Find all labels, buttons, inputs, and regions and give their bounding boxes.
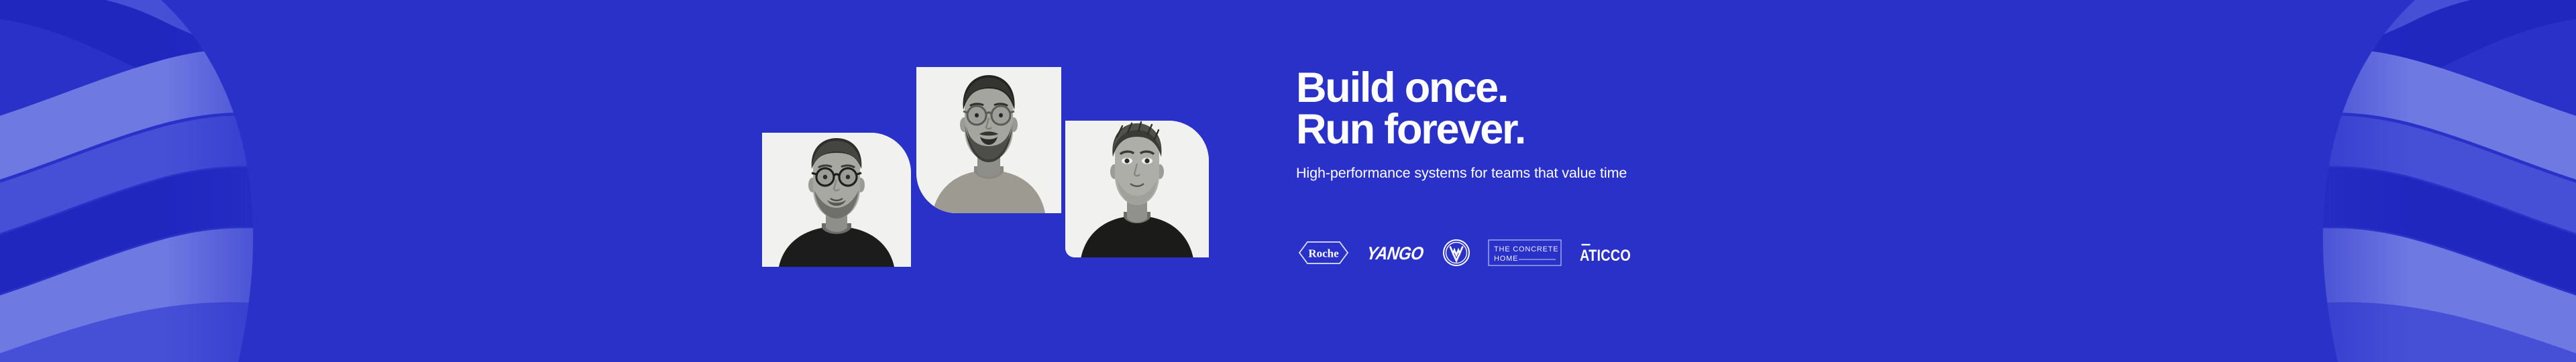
svg-text:HOME: HOME: [1494, 255, 1518, 263]
hero-banner: Build once. Run forever. High-performanc…: [0, 0, 2576, 362]
roche-logo: Roche: [1297, 237, 1350, 268]
team-photo-card-3: [1065, 121, 1209, 257]
page-title: Build once. Run forever.: [1296, 67, 1819, 151]
svg-text:Roche: Roche: [1308, 247, 1339, 260]
client-logo-strip: Roche YANGO THE CONCRETE HOME: [1297, 235, 1631, 270]
team-photo-card-1: [762, 133, 911, 267]
team-photo-card-2: [916, 67, 1061, 213]
headline-line-1: Build once.: [1296, 64, 1507, 111]
svg-text:THE CONCRETE: THE CONCRETE: [1494, 245, 1558, 253]
svg-text:ATICCO: ATICCO: [1580, 247, 1631, 264]
svg-text:YANGO: YANGO: [1367, 243, 1425, 263]
hero-copy: Build once. Run forever. High-performanc…: [1296, 67, 1819, 182]
volkswagen-logo: [1442, 237, 1470, 268]
yango-logo: YANGO: [1367, 237, 1425, 268]
hero-subtitle: High-performance systems for teams that …: [1296, 165, 1819, 182]
headline-line-2: Run forever.: [1296, 109, 1819, 150]
team-photo-group: [0, 0, 2576, 362]
the-concrete-home-logo: THE CONCRETE HOME: [1488, 237, 1562, 268]
aticco-logo: ATICCO: [1579, 237, 1631, 268]
